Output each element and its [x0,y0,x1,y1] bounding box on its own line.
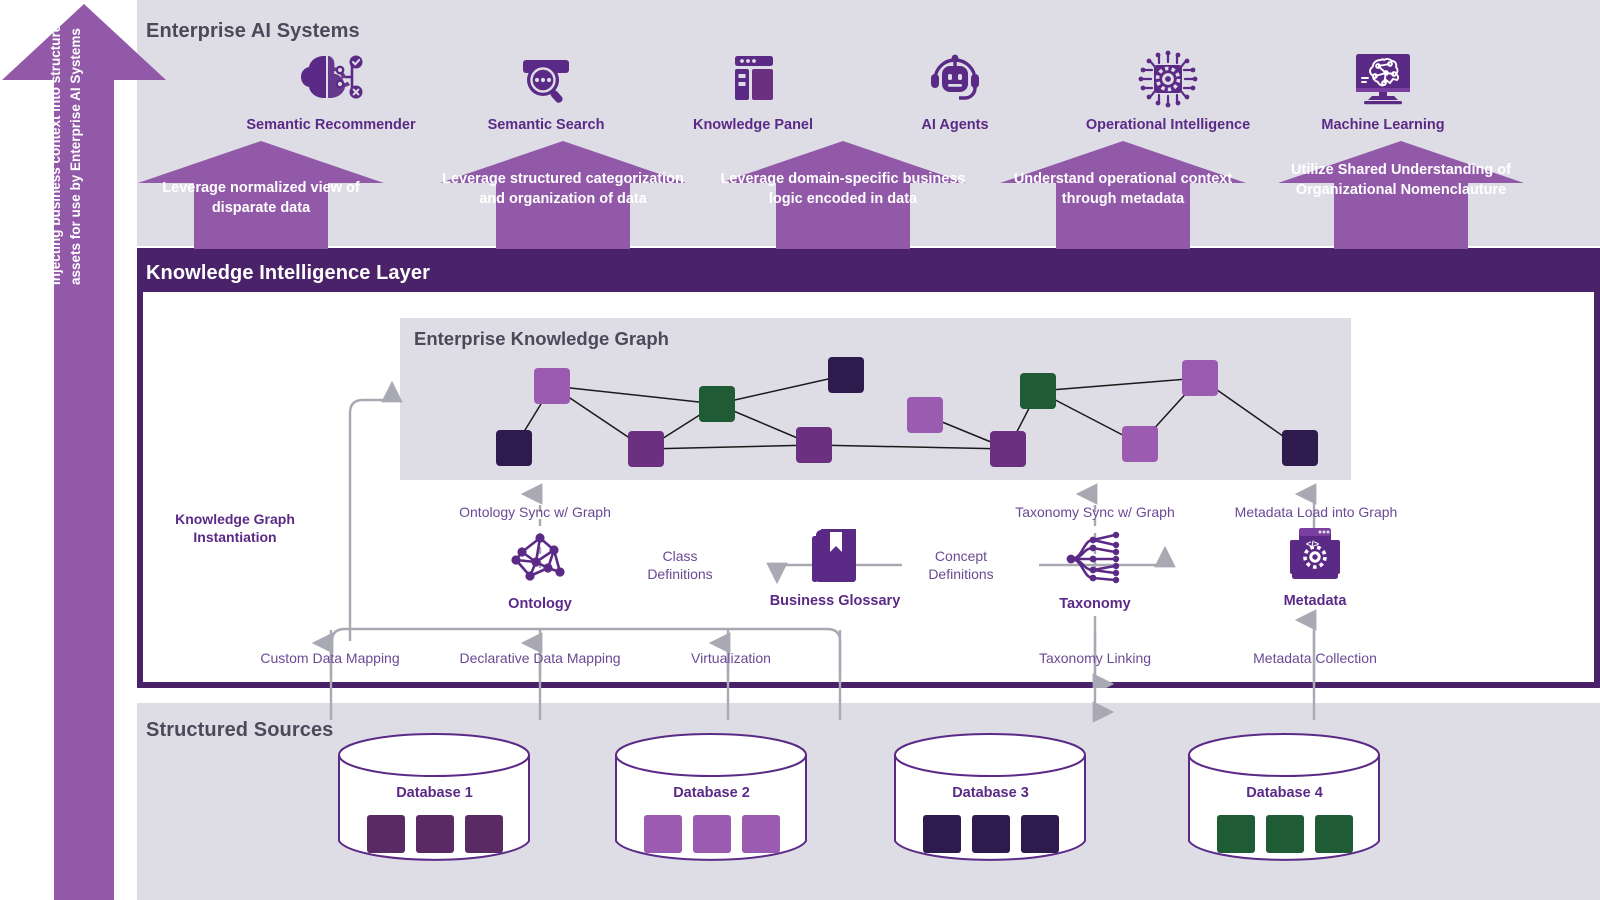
caption-declarative-data-mapping: Declarative Data Mapping [445,650,635,668]
metadata-gear-icon: </> [1230,525,1400,587]
asset-label: Metadata [1230,593,1400,609]
database-label: Database 3 [893,785,1088,801]
brain-network-icon [226,46,436,108]
callout-operational-intelligence: Understand operational context through m… [1000,139,1246,249]
ai-system-label: Semantic Recommender [226,117,436,134]
caption-virtualization: Virtualization [678,650,784,668]
callout-text: Leverage domain-specific business logic … [720,170,966,209]
caption-custom-data-mapping: Custom Data Mapping [250,650,410,668]
panel-layout-icon [648,46,858,108]
ai-system-label: Semantic Search [441,117,651,134]
ontology-graph-icon [455,528,625,590]
db-chip [367,815,405,853]
ai-system-label: Knowledge Panel [648,117,858,134]
caption-kg-instantiation: Knowledge Graph Instantiation [155,511,315,546]
db-chip [416,815,454,853]
ai-system-label: Machine Learning [1278,117,1488,134]
caption-class-definitions: Class Definitions [620,548,740,583]
database-1[interactable]: Database 1 [337,733,532,863]
callout-semantic-search: Leverage structured categorization and o… [440,139,686,249]
db-chip [1266,815,1304,853]
ai-system-ai-agents[interactable]: AI Agents [850,46,1060,134]
callout-text: Leverage structured categorization and o… [440,170,686,209]
caption-concept-definitions: Concept Definitions [900,548,1022,583]
caption-metadata-load: Metadata Load into Graph [1218,504,1414,522]
database-label: Database 2 [614,785,809,801]
ai-system-machine-learning[interactable]: Machine Learning [1278,46,1488,134]
db-chip [923,815,961,853]
callout-knowledge-panel: Leverage domain-specific business logic … [720,139,966,249]
db-chip [644,815,682,853]
database-3[interactable]: Database 3 [893,733,1088,863]
ai-system-operational-intelligence[interactable]: Operational Intelligence [1063,46,1273,134]
ai-system-label: AI Agents [850,117,1060,134]
callout-semantic-recommender: Leverage normalized view of disparate da… [138,139,384,249]
database-label: Database 4 [1187,785,1382,801]
section-title-top: Enterprise AI Systems [146,20,360,43]
callout-text: Leverage normalized view of disparate da… [138,179,384,218]
diagram-canvas: Injecting business context into structur… [0,0,1600,900]
side-arrow-label: Injecting business context into structur… [46,0,85,285]
database-chips [614,815,809,853]
database-4[interactable]: Database 4 [1187,733,1382,863]
caption-ontology-sync: Ontology Sync w/ Graph [450,504,620,522]
ai-system-semantic-recommender[interactable]: Semantic Recommender [226,46,436,134]
db-chip [1021,815,1059,853]
callout-machine-learning: Utilize Shared Understanding of Organiza… [1278,139,1524,249]
database-chips [1187,815,1382,853]
callout-text: Understand operational context through m… [1000,170,1246,209]
asset-label: Ontology [455,596,625,612]
db-chip [972,815,1010,853]
database-chips [337,815,532,853]
caption-taxonomy-linking: Taxonomy Linking [1022,650,1168,668]
database-label: Database 1 [337,785,532,801]
ai-system-semantic-search[interactable]: Semantic Search [441,46,651,134]
asset-business-glossary[interactable]: Business Glossary [750,525,920,609]
taxonomy-tree-icon [1010,528,1180,590]
asset-label: Business Glossary [750,593,920,609]
db-chip [465,815,503,853]
callout-text: Utilize Shared Understanding of Organiza… [1278,161,1524,200]
ai-system-knowledge-panel[interactable]: Knowledge Panel [648,46,858,134]
book-icon [750,525,920,587]
asset-label: Taxonomy [1010,596,1180,612]
asset-metadata[interactable]: </> Metadata [1230,525,1400,609]
caption-taxonomy-sync: Taxonomy Sync w/ Graph [1005,504,1185,522]
database-2[interactable]: Database 2 [614,733,809,863]
side-arrow-label-wrap: Injecting business context into structur… [46,0,85,285]
asset-ontology[interactable]: Ontology [455,528,625,612]
ai-system-label: Operational Intelligence [1063,117,1273,134]
db-chip [1217,815,1255,853]
asset-taxonomy[interactable]: Taxonomy [1010,528,1180,612]
db-chip [1315,815,1353,853]
database-chips [893,815,1088,853]
chip-gear-icon [1063,46,1273,108]
monitor-brain-icon [1278,46,1488,108]
caption-metadata-collection: Metadata Collection [1235,650,1395,668]
robot-headset-icon [850,46,1060,108]
db-chip [742,815,780,853]
db-chip [693,815,731,853]
magnifier-icon [441,46,651,108]
